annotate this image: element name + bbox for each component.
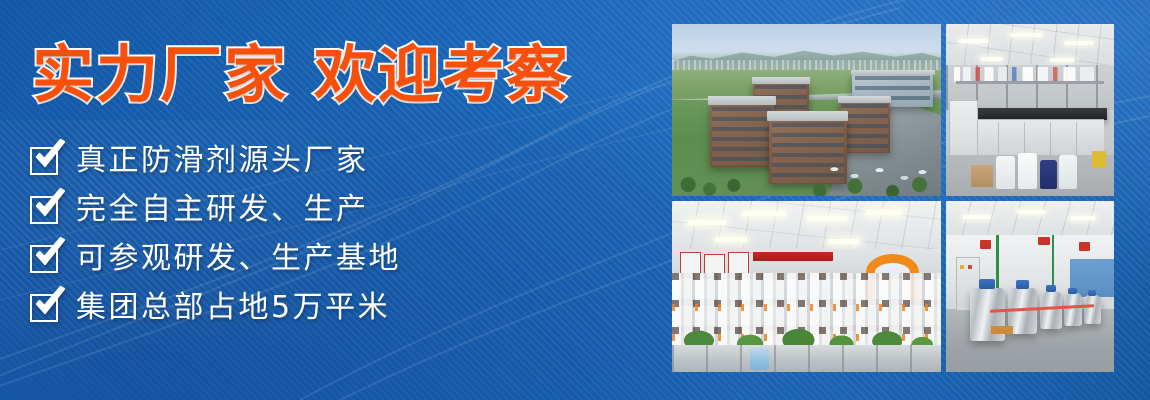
feature-list: 真正防滑剂源头厂家 完全自主研发、生产 可参观研发、生产基地 <box>30 142 401 326</box>
ceiling-light <box>959 39 988 43</box>
chemical-drum <box>1059 155 1077 189</box>
ceiling-light <box>742 211 785 216</box>
exit-sign <box>1079 242 1091 251</box>
list-item-label: 可参观研发、生产基地 <box>76 244 401 274</box>
list-item-label: 集团总部占地5万平米 <box>76 293 390 323</box>
cardboard-box <box>971 165 993 187</box>
ceiling-layer <box>946 24 1114 70</box>
photo-gallery: 园区航拍 实验室 <box>672 24 1114 372</box>
water-jug <box>750 348 769 370</box>
shelf <box>956 81 1104 84</box>
chemical-drum <box>996 156 1014 189</box>
ceiling-light <box>980 57 1004 61</box>
ceiling-light <box>866 210 904 215</box>
ceiling-light <box>715 237 747 242</box>
promo-banner: 实力厂家欢迎考察 真正防滑剂源头厂家 完全自主研发、生产 <box>0 0 1150 400</box>
list-item: 完全自主研发、生产 <box>30 191 401 228</box>
photo-caption: 园区航拍 <box>672 24 673 25</box>
ceiling-layer <box>672 201 941 252</box>
cars-layer <box>823 162 936 186</box>
ceiling-light <box>1070 216 1095 220</box>
lab-cabinet <box>949 100 978 159</box>
aerial-campus-photo: 园区航拍 <box>672 24 941 196</box>
office-desks <box>672 345 941 372</box>
list-item-label: 真正防滑剂源头厂家 <box>76 146 369 176</box>
red-banner <box>753 252 834 261</box>
ceiling-light <box>688 220 726 225</box>
page-title: 实力厂家欢迎考察 <box>32 44 570 106</box>
office-team-photo: 员工团队 <box>672 201 941 372</box>
list-item: 真正防滑剂源头厂家 <box>30 142 401 179</box>
laboratory-photo: 实验室 <box>946 24 1114 196</box>
ceiling-light <box>1010 33 1044 37</box>
checkbox-checked-icon <box>30 196 58 224</box>
wooden-pallet <box>991 326 1013 335</box>
chemical-drum <box>1040 160 1057 189</box>
ceiling-light <box>828 239 860 244</box>
production-equipment-photo: 生产设备 <box>946 201 1114 372</box>
checkbox-checked-icon <box>30 294 58 322</box>
checkbox-checked-icon <box>30 147 58 175</box>
ceiling-light <box>1017 210 1046 214</box>
ceiling-light <box>963 215 990 219</box>
waste-bin <box>1092 151 1105 168</box>
list-item-label: 完全自主研发、生产 <box>76 195 369 225</box>
list-item: 集团总部占地5万平米 <box>30 289 401 326</box>
headline-part-2: 欢迎考察 <box>314 38 570 111</box>
mixing-tank <box>1040 292 1062 330</box>
exit-sign <box>980 240 992 249</box>
lab-bench-cabinets <box>966 119 1104 158</box>
ceiling-light <box>1064 41 1094 45</box>
mixing-tank <box>1084 295 1101 324</box>
headline-part-1: 实力厂家 <box>32 38 288 111</box>
chemical-drum <box>1018 153 1036 189</box>
ceiling-light <box>1050 58 1075 62</box>
ceiling-light <box>807 216 847 221</box>
exit-sign <box>1038 237 1050 246</box>
list-item: 可参观研发、生产基地 <box>30 240 401 277</box>
checkbox-checked-icon <box>30 245 58 273</box>
mixing-tank <box>1064 293 1082 325</box>
